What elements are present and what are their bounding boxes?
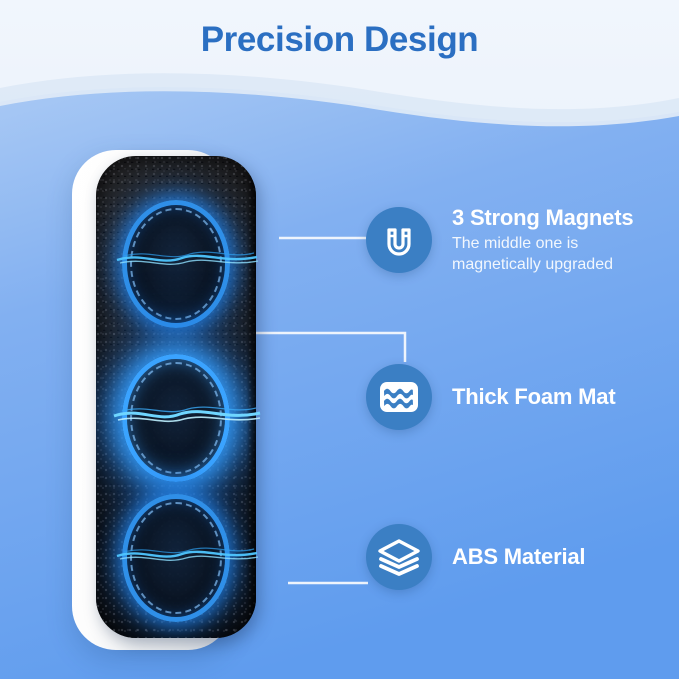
feature-abs-material-text: ABS Material — [452, 544, 585, 569]
page-title: Precision Design — [0, 20, 679, 60]
middle-magnet — [122, 354, 230, 482]
top-magnet — [122, 200, 230, 328]
feature-magnets: 3 Strong Magnets The middle one is magne… — [366, 205, 633, 276]
feature-magnets-title: 3 Strong Magnets — [452, 205, 633, 230]
foam-edge — [247, 156, 256, 638]
product-image — [72, 150, 262, 650]
layers-icon — [366, 524, 432, 590]
foam-mat-icon — [366, 364, 432, 430]
feature-magnets-text: 3 Strong Magnets The middle one is magne… — [452, 205, 633, 276]
product-infographic: Precision Design — [0, 0, 679, 679]
feature-abs-material: ABS Material — [366, 524, 585, 590]
foam-pad — [96, 156, 256, 638]
feature-foam-mat-text: Thick Foam Mat — [452, 384, 615, 409]
feature-foam-mat: Thick Foam Mat — [366, 364, 615, 430]
feature-foam-mat-title: Thick Foam Mat — [452, 384, 615, 409]
feature-abs-material-title: ABS Material — [452, 544, 585, 569]
feature-magnets-subtitle: The middle one is magnetically upgraded — [452, 233, 633, 275]
magnet-icon — [366, 207, 432, 273]
bottom-magnet — [122, 494, 230, 622]
